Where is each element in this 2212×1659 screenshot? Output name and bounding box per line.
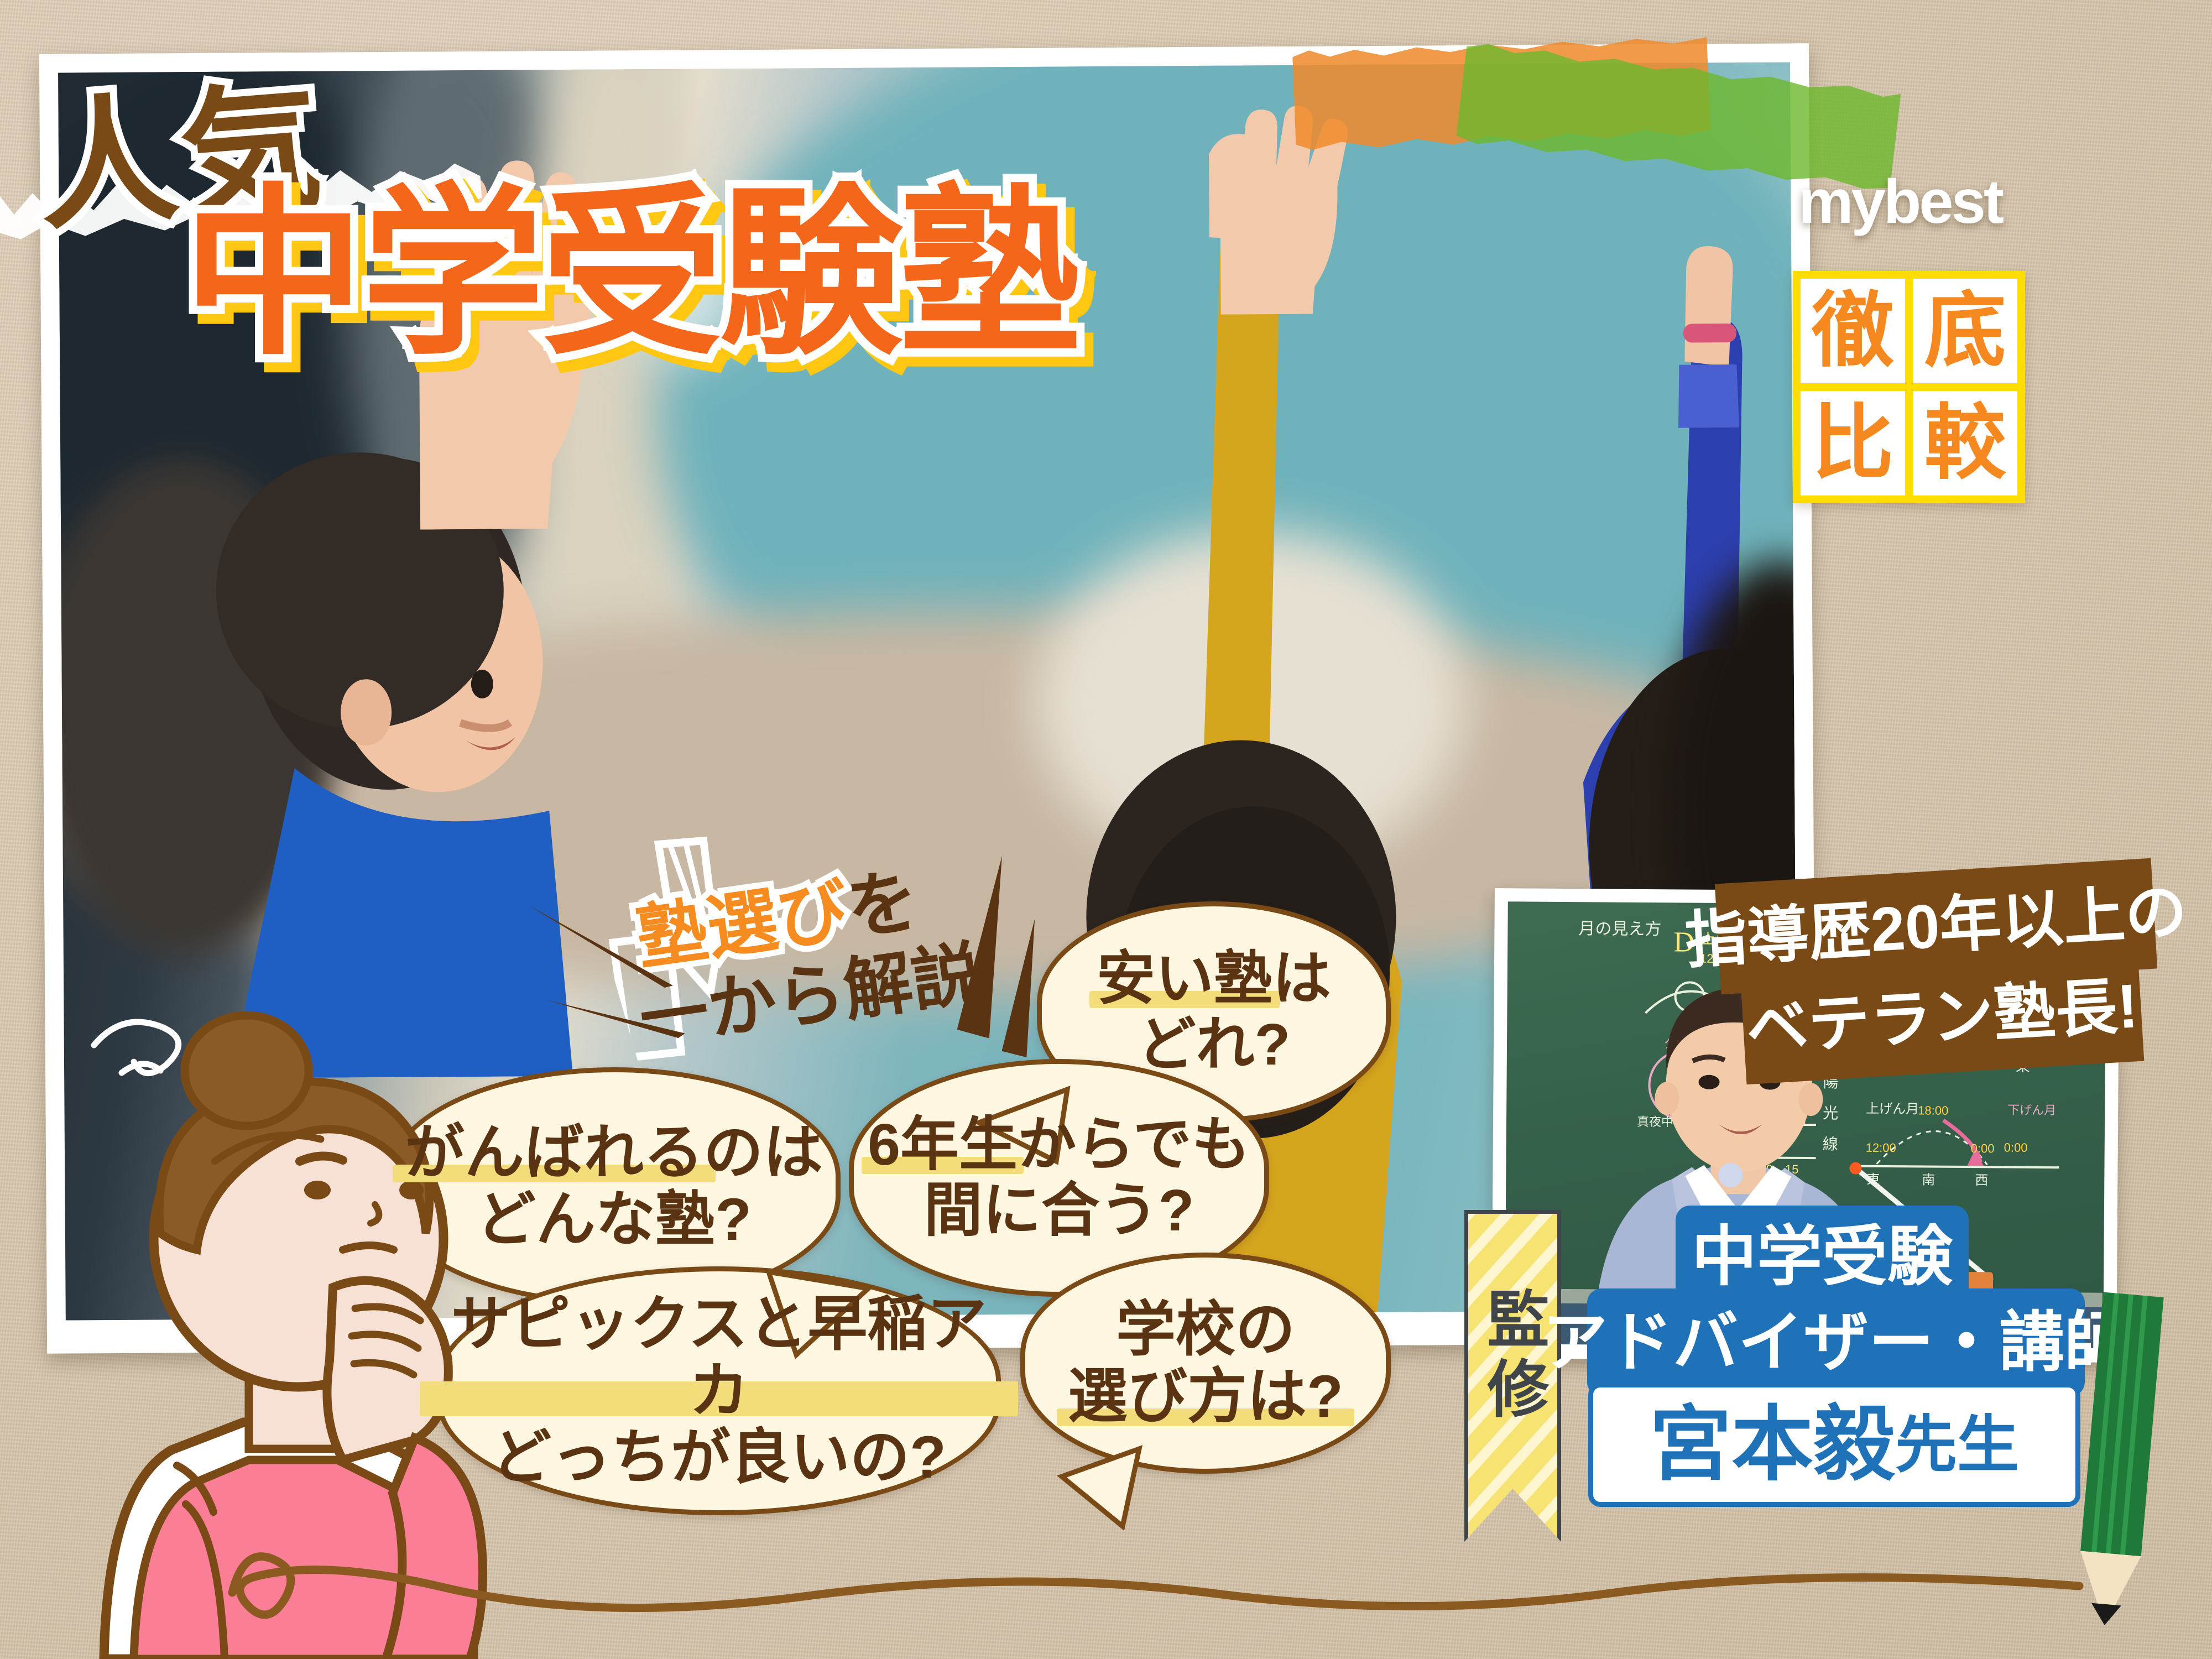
expert-honorific: 先生 [1895, 1414, 2019, 1476]
badge-cell-tettei-2: 底 [1913, 279, 2017, 383]
expert-banner-line-2: ベテラン塾長! [1740, 951, 2145, 1084]
svg-text:上げん月: 上げん月 [1866, 1102, 1919, 1117]
mybest-logo: mybest [1798, 166, 2002, 237]
tettei-hikaku-badge: 徹 底 比 較 [1793, 271, 2025, 503]
bubble-line-2: 間に合う? [924, 1178, 1194, 1244]
svg-text:18:00: 18:00 [1918, 1103, 1948, 1117]
bubble-line-2: 選び方は? [1068, 1363, 1343, 1430]
badge-cell-hikaku-2: 較 [1913, 391, 2017, 495]
expert-name: 宮本毅 [1650, 1404, 1895, 1486]
bubble-line-1: 安い塾は [1097, 946, 1331, 1012]
badge-cell-hikaku-1: 比 [1801, 391, 1905, 495]
svg-text:月の見え方: 月の見え方 [1578, 920, 1661, 938]
callout-rest: を [842, 861, 924, 949]
bubble-line-1: サピックスと早稲アカ [442, 1291, 996, 1425]
bubble-line-2: どれ? [1138, 1012, 1291, 1078]
bubble-line-1: 6年生からでも [868, 1112, 1250, 1178]
svg-text:南: 南 [1922, 1172, 1935, 1187]
bubble-line-2: どっちが良いの? [492, 1424, 946, 1491]
badge-cell-tettei-1: 徹 [1801, 279, 1905, 383]
bubble-line-1: 学校の [1116, 1296, 1295, 1363]
bubble-line-1: がんばれるのは [405, 1119, 823, 1186]
expert-name-plate: 宮本毅先生 [1588, 1383, 2080, 1507]
bubble-tail [1051, 1443, 1150, 1532]
bubble-gakkou-erabikata: 学校の 選び方は? [1020, 1253, 1391, 1474]
bubble-line-2: どんな塾? [476, 1186, 752, 1253]
svg-text:西: 西 [1975, 1173, 1988, 1188]
svg-text:下げん月: 下げん月 [2007, 1103, 2056, 1118]
page-title: 中学受験塾 [182, 182, 1078, 365]
squiggle-divider-icon [210, 1526, 2101, 1631]
bubble-sapix-wasedaaka: サピックスと早稲アカ どっちが良いの? [437, 1266, 1001, 1515]
svg-text:0:00: 0:00 [2004, 1141, 2028, 1155]
svg-text:0:00: 0:00 [1971, 1141, 1995, 1155]
svg-text:12:00: 12:00 [1866, 1141, 1896, 1155]
expert-role-line-2: アドバイザー・講師 [1587, 1288, 2085, 1396]
